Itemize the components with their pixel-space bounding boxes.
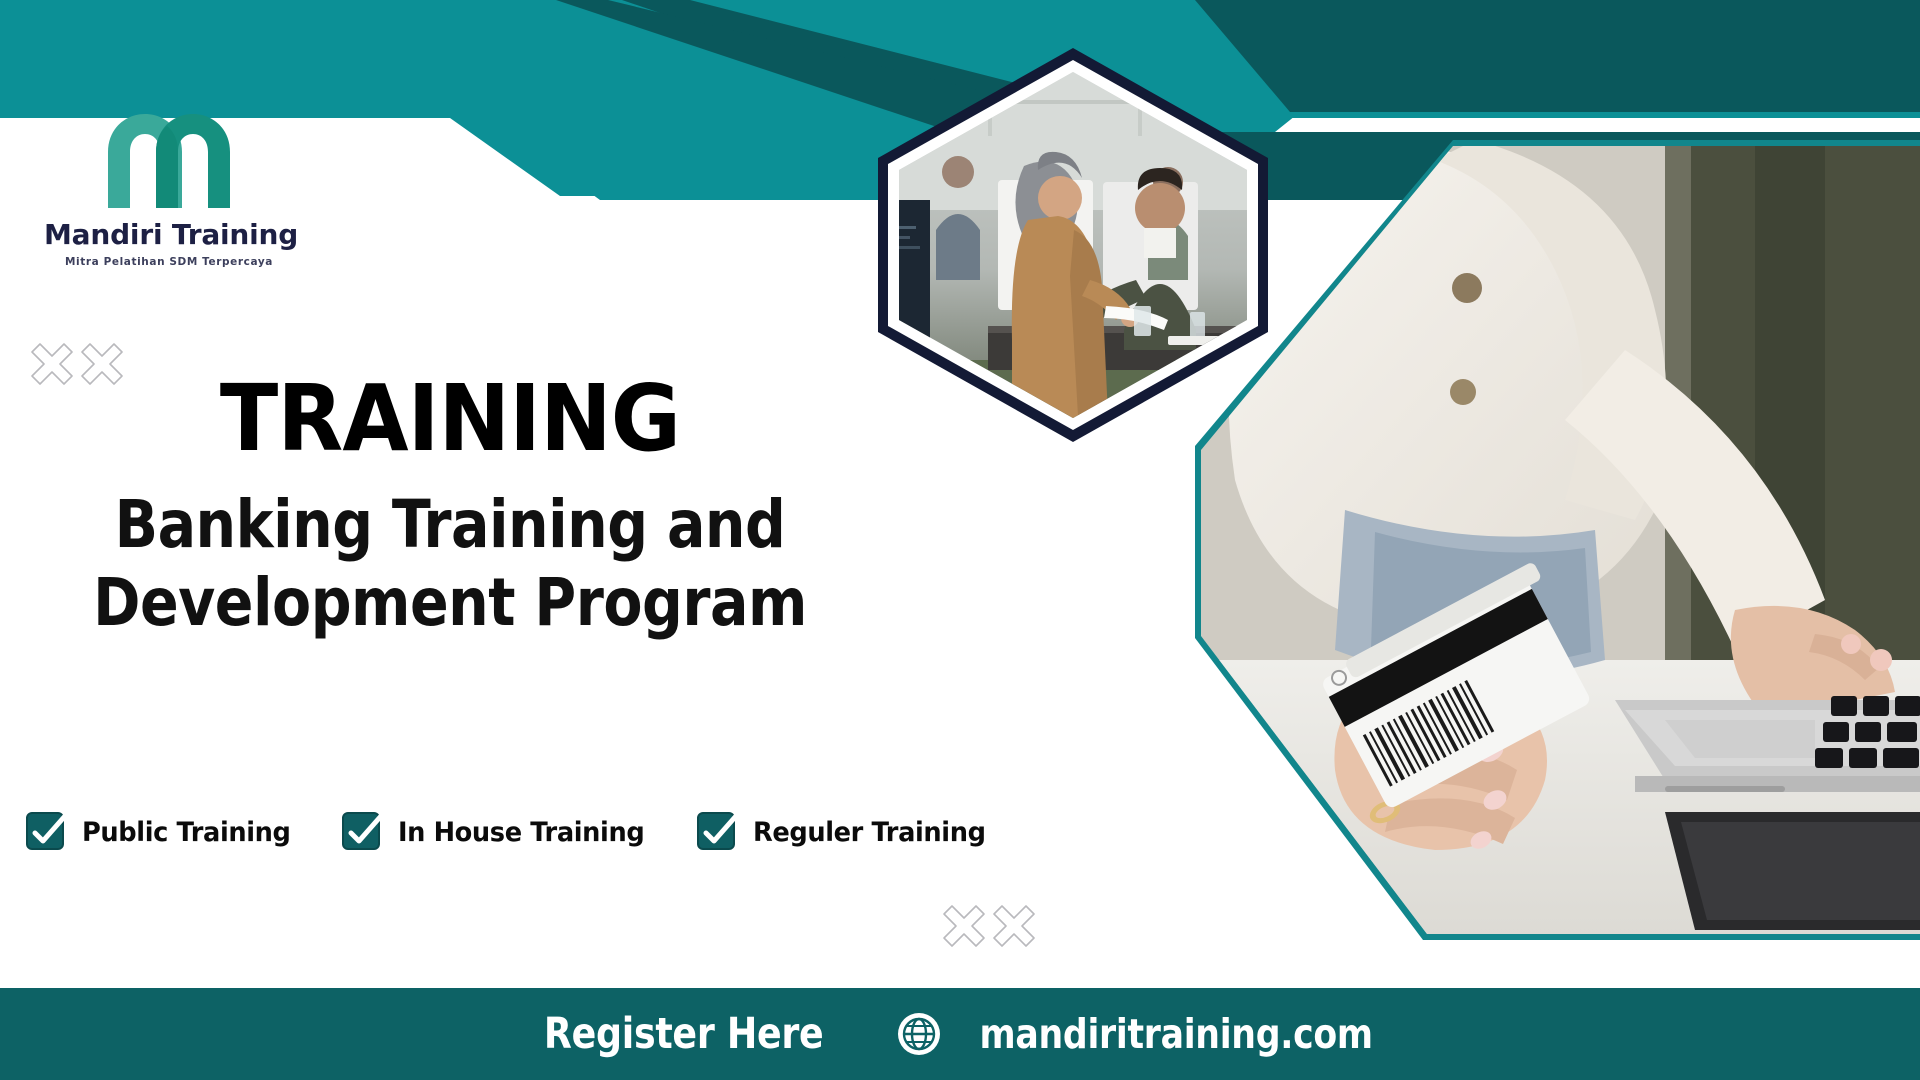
feature-label: Public Training xyxy=(82,817,291,848)
training-type-list: Public Training In House Training Regule… xyxy=(24,810,998,854)
page-title-kicker: TRAINING xyxy=(32,374,869,464)
feature-in-house-training[interactable]: In House Training xyxy=(340,810,657,854)
footer-bar: Register Here mandiritraining.com xyxy=(0,988,1920,1080)
banner-canvas: Mandiri Training Mitra Pelatihan SDM Ter… xyxy=(0,0,1920,1080)
page-subtitle-line-2: Development Program xyxy=(18,564,882,642)
website-link[interactable]: mandiritraining.com xyxy=(895,1010,1385,1058)
globe-icon xyxy=(895,1010,943,1058)
feature-label: In House Training xyxy=(398,817,644,848)
website-url[interactable]: mandiritraining.com xyxy=(979,1010,1372,1058)
page-subtitle-line-1: Banking Training and xyxy=(18,486,882,564)
checkbox-checked-icon[interactable] xyxy=(695,810,739,854)
checkbox-checked-icon[interactable] xyxy=(340,810,384,854)
online-banking-card-laptop-photo xyxy=(1195,140,1920,940)
brand-tagline: Mitra Pelatihan SDM Terpercaya xyxy=(44,256,294,268)
x-cross-outline-icon-group-bottom xyxy=(938,900,1042,964)
brand-logo[interactable]: Mandiri Training Mitra Pelatihan SDM Ter… xyxy=(44,104,294,268)
feature-reguler-training[interactable]: Reguler Training xyxy=(695,810,998,854)
feature-public-training[interactable]: Public Training xyxy=(24,810,302,854)
feature-label: Reguler Training xyxy=(753,817,986,848)
register-here-cta[interactable]: Register Here xyxy=(544,1009,824,1059)
brand-name: Mandiri Training xyxy=(44,218,294,251)
checkbox-checked-icon[interactable] xyxy=(24,810,68,854)
headline-block: TRAINING Banking Training and Developmen… xyxy=(0,374,900,642)
mandiri-m-monogram-icon xyxy=(94,104,244,214)
